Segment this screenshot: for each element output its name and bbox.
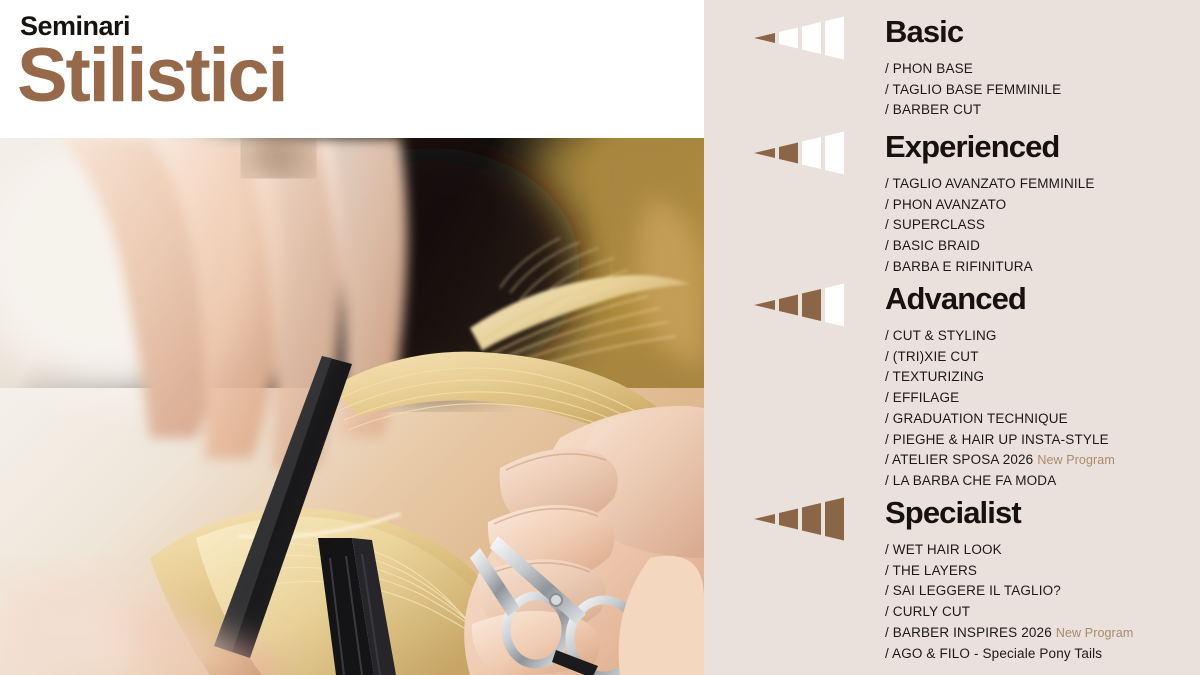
course-item-label: / TEXTURIZING bbox=[885, 369, 984, 384]
course-item-label: / SAI LEGGERE IL TAGLIO? bbox=[885, 583, 1061, 598]
course-item-label: / SUPERCLASS bbox=[885, 217, 985, 232]
course-item-label: / WET HAIR LOOK bbox=[885, 542, 1002, 557]
level-arrow-icon bbox=[754, 497, 846, 541]
course-item[interactable]: / AGO & FILO - Speciale Pony Tails bbox=[885, 644, 1195, 665]
arrow-segment-1 bbox=[754, 514, 775, 524]
section-body: Experienced/ TAGLIO AVANZATO FEMMINILE/ … bbox=[885, 131, 1195, 278]
course-item[interactable]: / PHON AVANZATO bbox=[885, 195, 1195, 216]
level-arrow-icon bbox=[754, 283, 846, 327]
course-item[interactable]: / BARBA E RIFINITURA bbox=[885, 257, 1195, 278]
course-list: / TAGLIO AVANZATO FEMMINILE/ PHON AVANZA… bbox=[885, 174, 1195, 278]
course-item[interactable]: / TAGLIO AVANZATO FEMMINILE bbox=[885, 174, 1195, 195]
course-item[interactable]: / CUT & STYLING bbox=[885, 326, 1195, 347]
level-arrow-icon bbox=[754, 16, 846, 60]
course-item[interactable]: / BARBER INSPIRES 2026New Program bbox=[885, 623, 1195, 644]
course-item[interactable]: / ATELIER SPOSA 2026New Program bbox=[885, 450, 1195, 471]
arrow-segment-4 bbox=[825, 131, 844, 174]
course-item[interactable]: / TAGLIO BASE FEMMINILE bbox=[885, 80, 1195, 101]
arrow-segment-3 bbox=[802, 503, 821, 535]
arrow-segment-1 bbox=[754, 33, 775, 43]
section-body: Specialist/ WET HAIR LOOK/ THE LAYERS/ S… bbox=[885, 497, 1195, 664]
course-item-label: / (TRI)XIE CUT bbox=[885, 349, 979, 364]
level-arrow-icon bbox=[754, 131, 846, 175]
course-item-label: / BARBER CUT bbox=[885, 102, 981, 117]
arrow-segment-1 bbox=[754, 300, 775, 310]
arrow-segment-4 bbox=[825, 497, 844, 540]
page-title: Stilistici bbox=[17, 38, 286, 114]
arrow-segment-2 bbox=[779, 27, 798, 48]
course-list: / WET HAIR LOOK/ THE LAYERS/ SAI LEGGERE… bbox=[885, 540, 1195, 664]
course-item[interactable]: / BASIC BRAID bbox=[885, 236, 1195, 257]
course-item-label: / BARBER INSPIRES 2026 bbox=[885, 625, 1052, 640]
course-item[interactable]: / LA BARBA CHE FA MODA bbox=[885, 471, 1195, 492]
arrow-segment-2 bbox=[779, 294, 798, 315]
title-block: Seminari Stilistici bbox=[0, 0, 704, 138]
arrow-segment-3 bbox=[802, 137, 821, 169]
course-list: / PHON BASE/ TAGLIO BASE FEMMINILE/ BARB… bbox=[885, 59, 1195, 121]
left-column: Seminari Stilistici bbox=[0, 0, 704, 675]
course-item-label: / CUT & STYLING bbox=[885, 328, 997, 343]
new-program-badge: New Program bbox=[1033, 453, 1115, 467]
course-item[interactable]: / SAI LEGGERE IL TAGLIO? bbox=[885, 581, 1195, 602]
slide-root: Seminari Stilistici bbox=[0, 0, 1200, 675]
course-item[interactable]: / BARBER CUT bbox=[885, 100, 1195, 121]
course-item-label: / BASIC BRAID bbox=[885, 238, 980, 253]
course-item-label: / AGO & FILO - Speciale Pony Tails bbox=[885, 646, 1102, 661]
section-heading: Experienced bbox=[885, 131, 1195, 162]
course-item[interactable]: / (TRI)XIE CUT bbox=[885, 347, 1195, 368]
course-item[interactable]: / THE LAYERS bbox=[885, 561, 1195, 582]
course-item-label: / PHON AVANZATO bbox=[885, 197, 1006, 212]
course-item-label: / ATELIER SPOSA 2026 bbox=[885, 452, 1033, 467]
section-heading: Advanced bbox=[885, 283, 1195, 314]
course-item-label: / TAGLIO BASE FEMMINILE bbox=[885, 82, 1061, 97]
section-body: Advanced/ CUT & STYLING/ (TRI)XIE CUT/ T… bbox=[885, 283, 1195, 492]
course-item-label: / PHON BASE bbox=[885, 61, 973, 76]
arrow-segment-3 bbox=[802, 22, 821, 54]
course-list: / CUT & STYLING/ (TRI)XIE CUT/ TEXTURIZI… bbox=[885, 326, 1195, 492]
course-item[interactable]: / TEXTURIZING bbox=[885, 367, 1195, 388]
section-heading: Specialist bbox=[885, 497, 1195, 528]
course-item[interactable]: / EFFILAGE bbox=[885, 388, 1195, 409]
arrow-segment-4 bbox=[825, 283, 844, 326]
arrow-segment-4 bbox=[825, 16, 844, 59]
course-item[interactable]: / PHON BASE bbox=[885, 59, 1195, 80]
salon-haircut-photo bbox=[0, 138, 704, 675]
course-item-label: / LA BARBA CHE FA MODA bbox=[885, 473, 1056, 488]
programs-panel: Basic/ PHON BASE/ TAGLIO BASE FEMMINILE/… bbox=[704, 0, 1200, 675]
arrow-segment-1 bbox=[754, 148, 775, 158]
arrow-segment-2 bbox=[779, 142, 798, 163]
course-item-label: / BARBA E RIFINITURA bbox=[885, 259, 1033, 274]
arrow-segment-3 bbox=[802, 289, 821, 321]
course-item-label: / TAGLIO AVANZATO FEMMINILE bbox=[885, 176, 1095, 191]
new-program-badge: New Program bbox=[1052, 626, 1134, 640]
course-item[interactable]: / CURLY CUT bbox=[885, 602, 1195, 623]
section-heading: Basic bbox=[885, 16, 1195, 47]
course-item-label: / PIEGHE & HAIR UP INSTA-STYLE bbox=[885, 432, 1109, 447]
course-item-label: / THE LAYERS bbox=[885, 563, 977, 578]
arrow-segment-2 bbox=[779, 508, 798, 529]
course-item[interactable]: / SUPERCLASS bbox=[885, 215, 1195, 236]
course-item-label: / EFFILAGE bbox=[885, 390, 959, 405]
course-item[interactable]: / PIEGHE & HAIR UP INSTA-STYLE bbox=[885, 430, 1195, 451]
course-item-label: / GRADUATION TECHNIQUE bbox=[885, 411, 1068, 426]
course-item[interactable]: / GRADUATION TECHNIQUE bbox=[885, 409, 1195, 430]
section-body: Basic/ PHON BASE/ TAGLIO BASE FEMMINILE/… bbox=[885, 16, 1195, 121]
course-item-label: / CURLY CUT bbox=[885, 604, 970, 619]
course-item[interactable]: / WET HAIR LOOK bbox=[885, 540, 1195, 561]
